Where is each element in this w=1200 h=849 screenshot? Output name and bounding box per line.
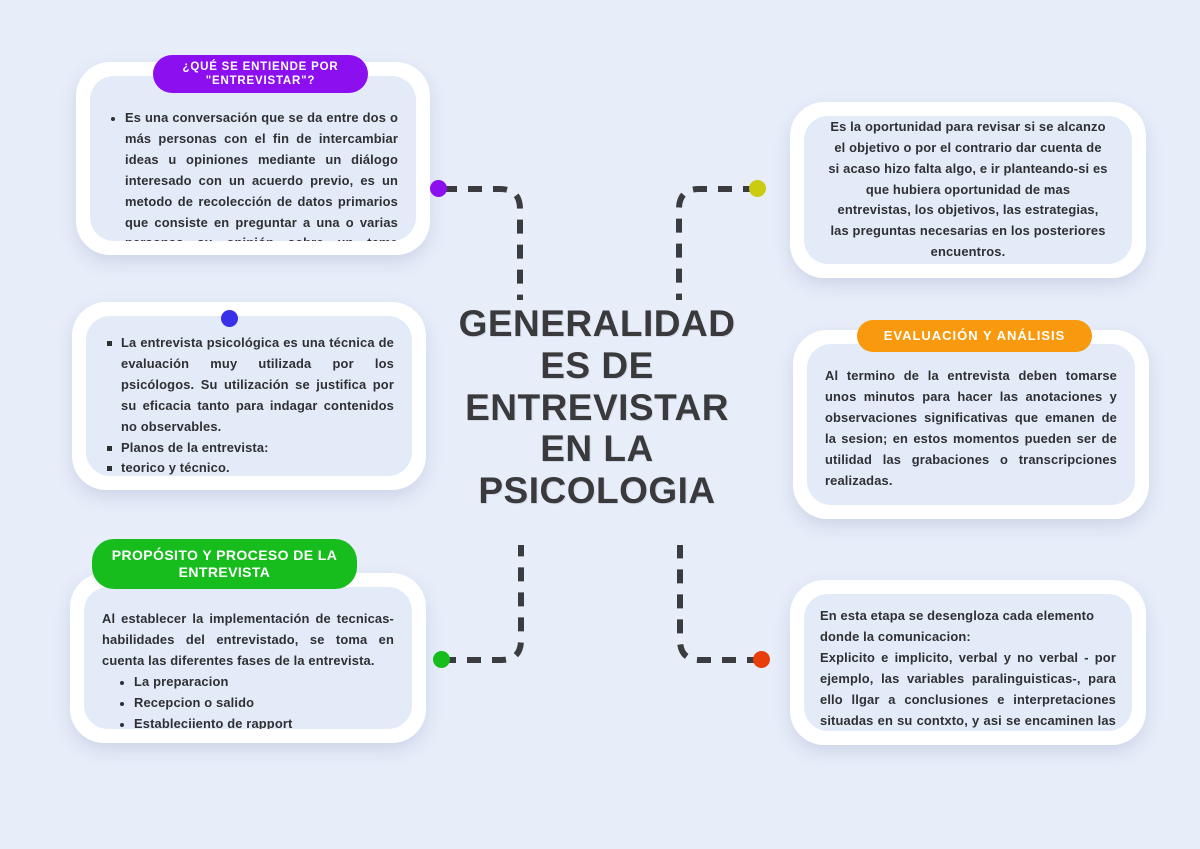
- dot-entrevista-psicologica: [221, 310, 238, 327]
- badge-proposito-proceso[interactable]: PROPÓSITO Y PROCESO DE LA ENTREVISTA: [92, 539, 357, 589]
- badge-que-es-entrevistar[interactable]: ¿QUÉ SE ENTIENDE POR "ENTREVISTAR"?: [153, 55, 368, 93]
- dot-desengloza-elemento: [753, 651, 770, 668]
- dot-que-es-entrevistar: [430, 180, 447, 197]
- badge-evaluacion-analisis[interactable]: EVALUACIÓN Y ANÁLISIS: [857, 320, 1092, 352]
- dot-oportunidad-revisar: [749, 180, 766, 197]
- mindmap-canvas: GENERALIDAD ES DE ENTREVISTAR EN LA PSIC…: [0, 0, 1200, 849]
- center-title: GENERALIDAD ES DE ENTREVISTAR EN LA PSIC…: [432, 303, 762, 512]
- center-title-line-4: EN LA: [432, 428, 762, 470]
- center-title-line-2: ES DE: [432, 345, 762, 387]
- badge-que-es-entrevistar-label: ¿QUÉ SE ENTIENDE POR "ENTREVISTAR"?: [165, 60, 356, 89]
- badge-proposito-proceso-label: PROPÓSITO Y PROCESO DE LA ENTREVISTA: [104, 547, 345, 582]
- center-title-line-5: PSICOLOGIA: [432, 470, 762, 512]
- dot-proposito-proceso: [433, 651, 450, 668]
- badge-evaluacion-analisis-label: EVALUACIÓN Y ANÁLISIS: [884, 328, 1066, 344]
- center-title-line-3: ENTREVISTAR: [432, 387, 762, 429]
- center-title-line-1: GENERALIDAD: [432, 303, 762, 345]
